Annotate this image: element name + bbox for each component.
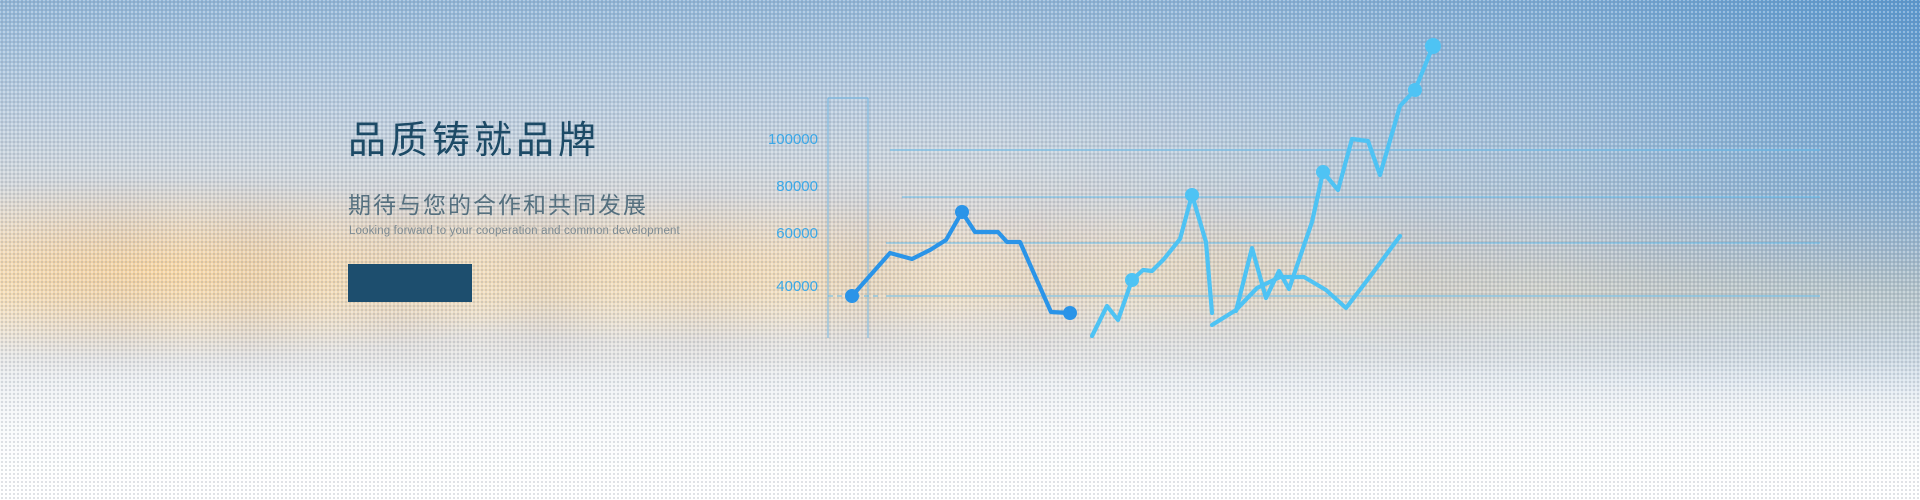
chart-marker bbox=[1185, 188, 1199, 202]
y-tick-label: 40000 bbox=[776, 278, 818, 295]
chart-series-group bbox=[852, 46, 1433, 336]
chart-series-line bbox=[852, 212, 1070, 313]
chart-svg: 100000 80000 60000 40000 bbox=[760, 0, 1920, 500]
y-tick-label: 80000 bbox=[776, 178, 818, 195]
line-chart: 100000 80000 60000 40000 bbox=[760, 0, 1920, 500]
chart-series-line bbox=[1236, 46, 1433, 311]
chart-marker bbox=[955, 205, 969, 219]
hero-banner: 品质铸就品牌 期待与您的合作和共同发展 Looking forward to y… bbox=[0, 0, 1920, 500]
chart-series-line bbox=[1372, 236, 1400, 274]
chart-series-line bbox=[1092, 195, 1212, 336]
chart-marker bbox=[1316, 165, 1330, 179]
chart-marker bbox=[845, 289, 859, 303]
chart-marker bbox=[1125, 273, 1139, 287]
chart-marker bbox=[1425, 38, 1441, 54]
y-tick-label: 60000 bbox=[776, 225, 818, 242]
chart-marker bbox=[1063, 306, 1077, 320]
subheadline: 期待与您的合作和共同发展 bbox=[348, 194, 768, 217]
subheadline-english: Looking forward to your cooperation and … bbox=[349, 226, 768, 238]
headline: 品质铸就品牌 bbox=[348, 122, 768, 160]
chart-axis bbox=[828, 98, 868, 338]
cta-button[interactable] bbox=[348, 264, 472, 302]
chart-y-tick-labels: 100000 80000 60000 40000 bbox=[768, 131, 818, 295]
y-tick-label: 100000 bbox=[768, 131, 818, 148]
chart-marker bbox=[1408, 83, 1422, 97]
copy-block: 品质铸就品牌 期待与您的合作和共同发展 Looking forward to y… bbox=[348, 122, 768, 302]
